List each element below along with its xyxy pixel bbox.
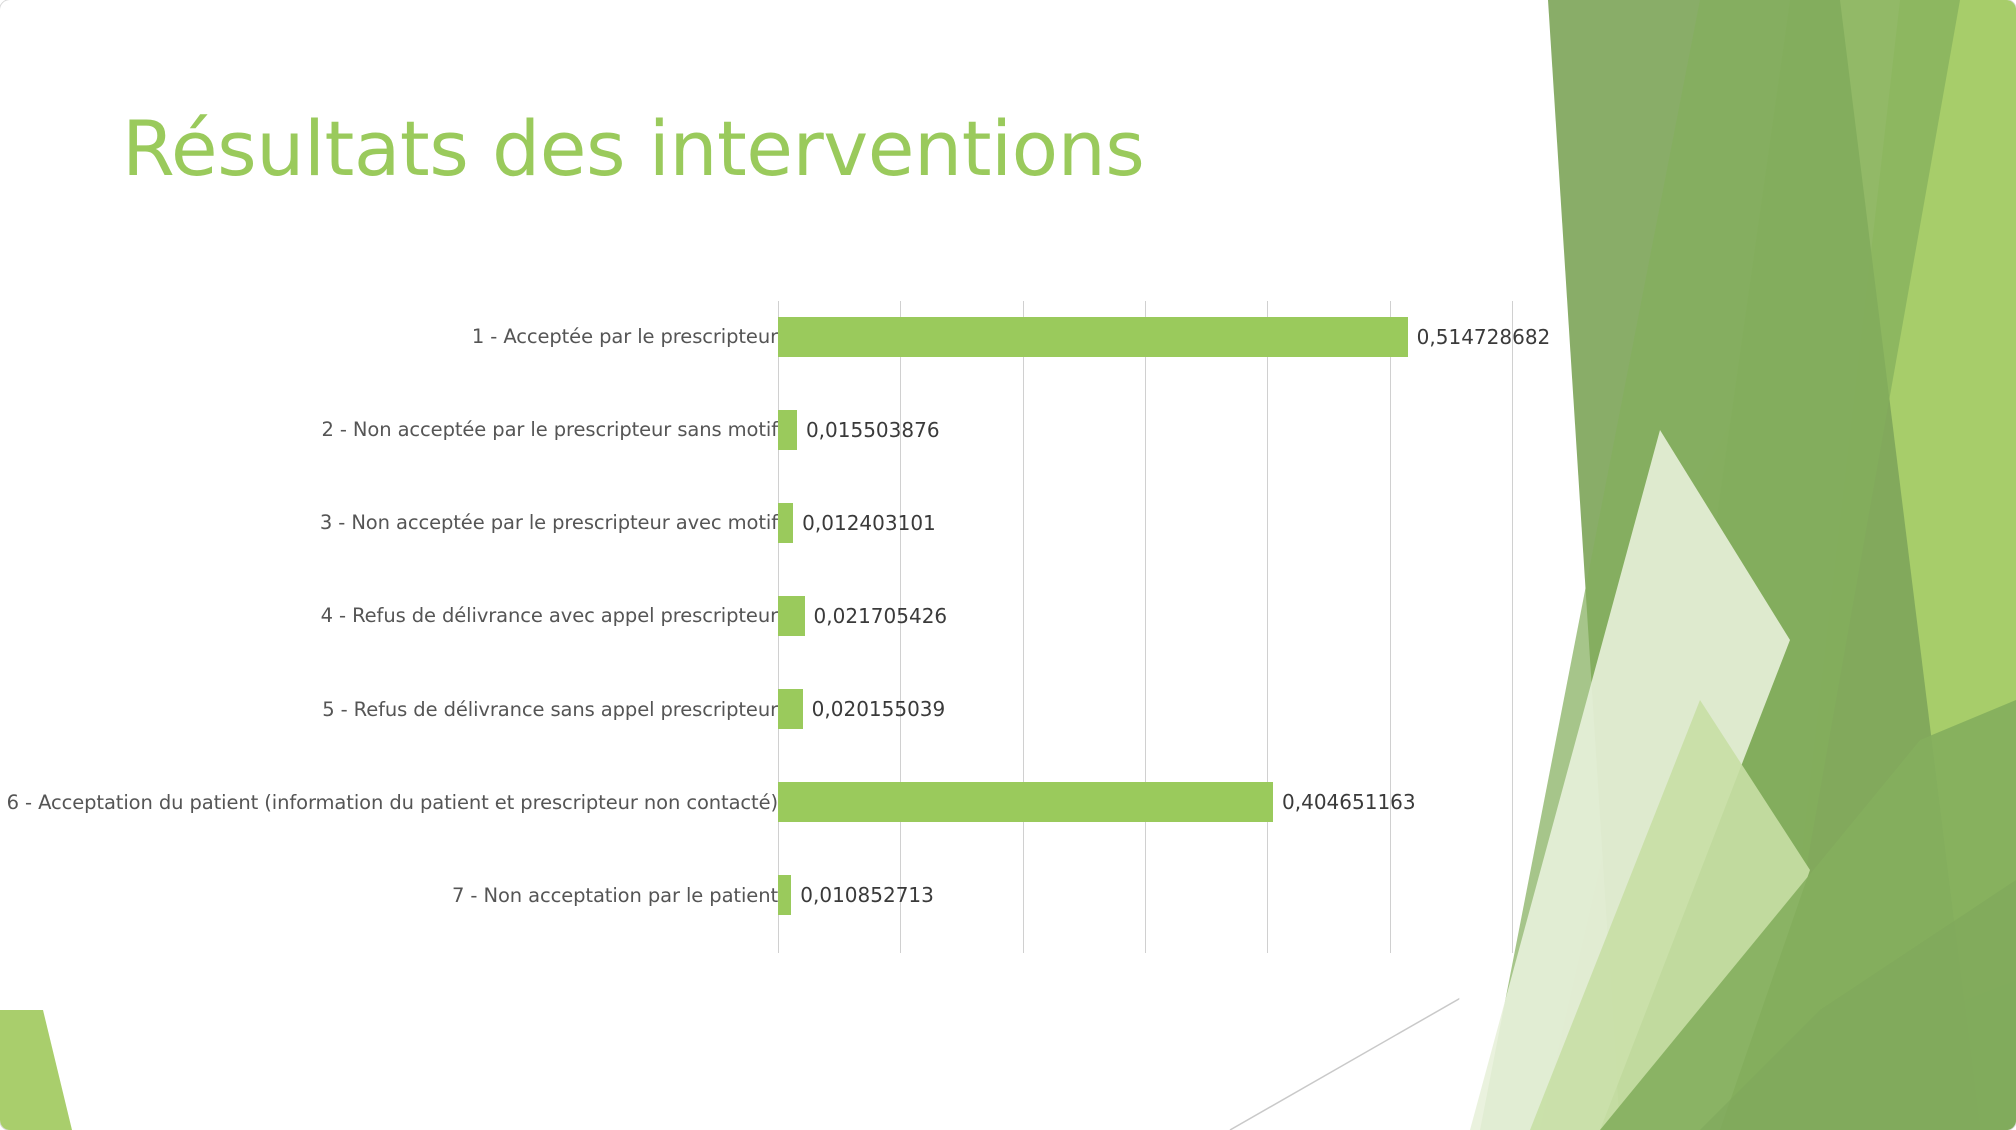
chart-bar xyxy=(778,875,791,915)
chart-category-label: 2 - Non acceptée par le prescripteur san… xyxy=(321,383,778,476)
chart-value-label: 0,015503876 xyxy=(806,418,940,442)
page-title: Résultats des interventions xyxy=(122,104,1144,193)
bar-chart: 1 - Acceptée par le prescripteur0,514728… xyxy=(0,290,1560,960)
decor-hairline-upper xyxy=(1552,0,1898,1130)
chart-bar-row: 6 - Acceptation du patient (information … xyxy=(0,756,1560,849)
chart-value-label: 0,010852713 xyxy=(800,883,934,907)
decor-band-light-right xyxy=(1630,0,2016,1130)
chart-value-label: 0,020155039 xyxy=(812,697,946,721)
chart-category-label: 1 - Acceptée par le prescripteur xyxy=(472,290,778,383)
chart-bar-container: 0,012403101 xyxy=(778,476,936,569)
chart-bar-container: 0,514728682 xyxy=(778,290,1550,383)
decor-block-bottom-right xyxy=(1600,700,2016,1130)
chart-value-label: 0,012403101 xyxy=(802,511,936,535)
chart-bar xyxy=(778,317,1408,357)
chart-category-label: 3 - Non acceptée par le prescripteur ave… xyxy=(320,476,778,569)
chart-bar xyxy=(778,410,797,450)
decor-band-dark-left xyxy=(1548,0,1980,1130)
chart-bar-container: 0,021705426 xyxy=(778,569,947,662)
chart-value-label: 0,404651163 xyxy=(1282,790,1416,814)
chart-rows: 1 - Acceptée par le prescripteur0,514728… xyxy=(0,290,1560,960)
chart-bar-row: 4 - Refus de délivrance avec appel presc… xyxy=(0,569,1560,662)
decor-wedge-bottom-left xyxy=(0,1010,72,1130)
chart-bar-row: 5 - Refus de délivrance sans appel presc… xyxy=(0,663,1560,756)
decor-block-bottom-right-2 xyxy=(1700,880,2016,1130)
chart-category-label: 7 - Non acceptation par le patient xyxy=(452,849,778,942)
presentation-slide: Résultats des interventions 1 - Acceptée… xyxy=(0,0,2016,1130)
chart-value-label: 0,021705426 xyxy=(814,604,948,628)
chart-bar-row: 3 - Non acceptée par le prescripteur ave… xyxy=(0,476,1560,569)
chart-category-label: 4 - Refus de délivrance avec appel presc… xyxy=(321,569,778,662)
chart-category-label: 5 - Refus de délivrance sans appel presc… xyxy=(322,663,778,756)
chart-bar xyxy=(778,689,803,729)
chart-bar xyxy=(778,782,1273,822)
chart-bar-container: 0,020155039 xyxy=(778,663,945,756)
chart-bar-row: 2 - Non acceptée par le prescripteur san… xyxy=(0,383,1560,476)
chart-bar-container: 0,404651163 xyxy=(778,756,1416,849)
chart-bar xyxy=(778,596,805,636)
decor-band-palegreen-overlay xyxy=(1530,700,1810,1130)
decor-band-bright-right xyxy=(1770,0,2016,1130)
chart-bar-container: 0,015503876 xyxy=(778,383,940,476)
decor-band-verypale xyxy=(1540,230,2016,1130)
chart-category-label: 6 - Acceptation du patient (information … xyxy=(7,756,778,849)
chart-bar xyxy=(778,503,793,543)
chart-bar-container: 0,010852713 xyxy=(778,849,934,942)
chart-bar-row: 1 - Acceptée par le prescripteur0,514728… xyxy=(0,290,1560,383)
chart-bar-row: 7 - Non acceptation par le patient0,0108… xyxy=(0,849,1560,942)
chart-value-label: 0,514728682 xyxy=(1417,325,1551,349)
